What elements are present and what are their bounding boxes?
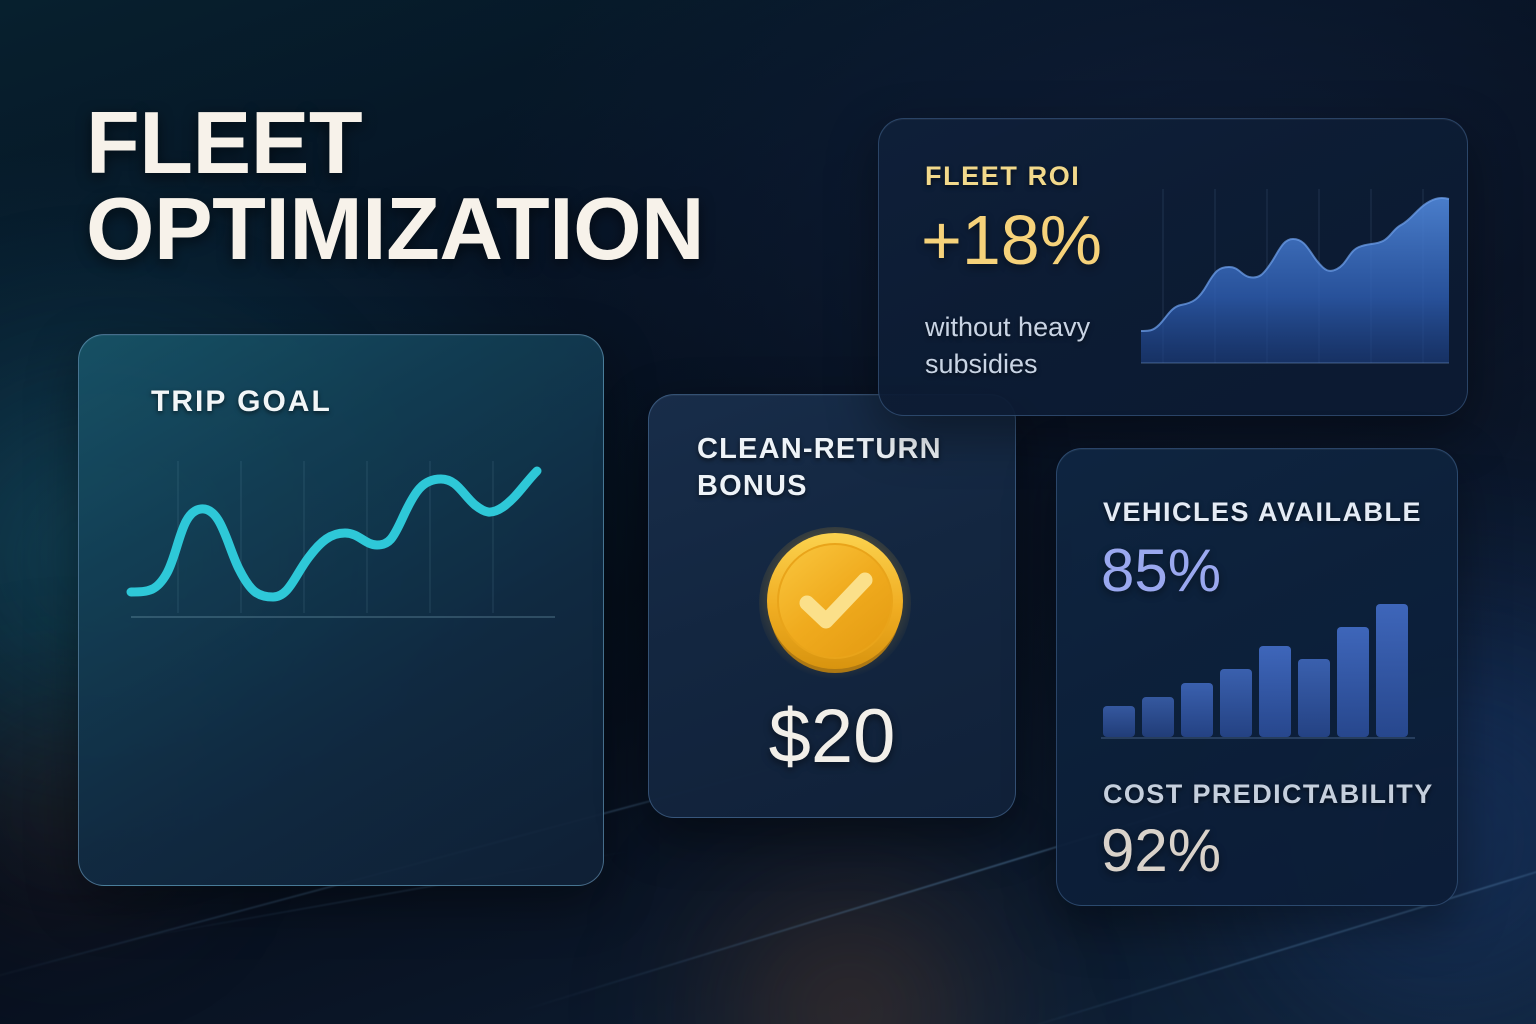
vehicles-available-label: VEHICLES AVAILABLE — [1103, 497, 1422, 528]
trip-goal-card[interactable]: TRIP GOAL 15 Completed — [78, 334, 604, 886]
trip-goal-line-chart — [123, 453, 563, 633]
clean-return-bonus-amount: $20 — [649, 693, 1015, 780]
clean-return-bonus-card[interactable]: CLEAN-RETURN BONUS — [648, 394, 1016, 818]
clean-return-bonus-title: CLEAN-RETURN BONUS — [697, 431, 987, 504]
fleet-roi-note: without heavy subsidies — [925, 309, 1125, 382]
fleet-roi-title: FLEET ROI — [925, 161, 1080, 192]
gold-coin-check-icon — [755, 523, 915, 683]
fleet-roi-card[interactable]: FLEET ROI +18% without heavy subsidies — [878, 118, 1468, 416]
vehicles-available-bar-chart — [1097, 569, 1423, 745]
cost-predictability-label: COST PREDICTABILITY — [1103, 779, 1434, 810]
bonus-title-line2: BONUS — [697, 470, 808, 502]
fleet-roi-area-chart — [1137, 179, 1453, 387]
page-title-line1: FLEET — [86, 93, 362, 192]
page-title-line2: OPTIMIZATION — [86, 186, 806, 272]
bonus-title-line1: CLEAN-RETURN — [697, 433, 942, 465]
cost-predictability-value: 92% — [1101, 821, 1221, 881]
trip-goal-line-series — [131, 471, 537, 597]
chart-bars — [1103, 604, 1408, 737]
fleet-roi-note-line2: subsidies — [925, 349, 1038, 379]
trip-goal-title: TRIP GOAL — [151, 385, 332, 419]
fleet-roi-area-series — [1141, 198, 1449, 363]
page-title: FLEET OPTIMIZATION — [86, 100, 806, 272]
fleet-stats-card[interactable]: VEHICLES AVAILABLE 85% COST PREDICTABI — [1056, 448, 1458, 906]
fleet-roi-note-line1: without heavy — [925, 312, 1090, 342]
fleet-roi-value: +18% — [921, 205, 1102, 275]
